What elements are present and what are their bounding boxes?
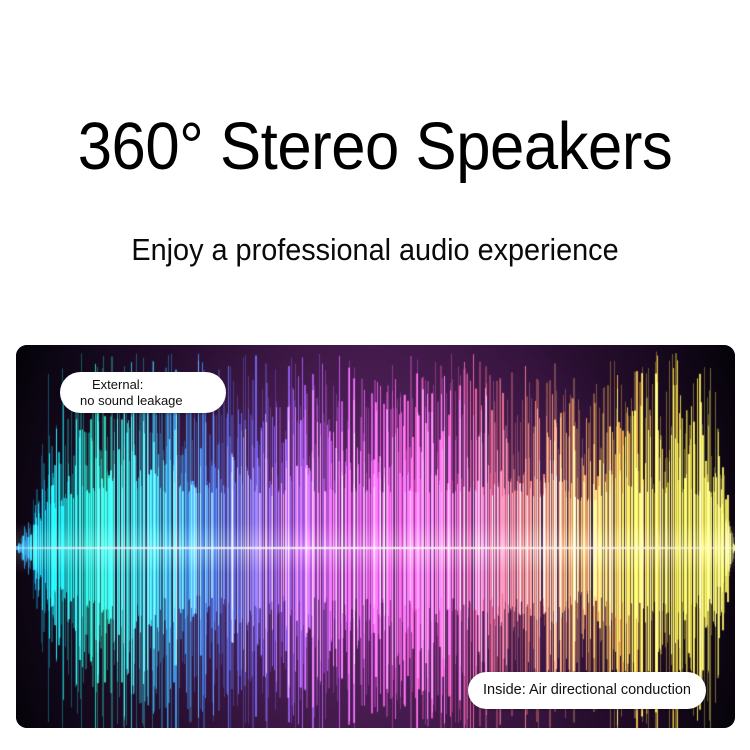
page-title: 360° Stereo Speakers <box>30 113 720 180</box>
waveform-centerline <box>16 547 735 549</box>
callout-inside-line-1: Inside: Air directional conduction <box>468 682 706 699</box>
callout-external-line-1: External: <box>92 377 226 393</box>
callout-inside: Inside: Air directional conduction <box>468 672 706 709</box>
audio-waveform-panel: External: no sound leakage Inside: Air d… <box>16 345 735 728</box>
callout-external: External: no sound leakage <box>60 372 226 413</box>
callout-external-line-2: no sound leakage <box>80 393 226 409</box>
page-subtitle: Enjoy a professional audio experience <box>26 234 724 265</box>
